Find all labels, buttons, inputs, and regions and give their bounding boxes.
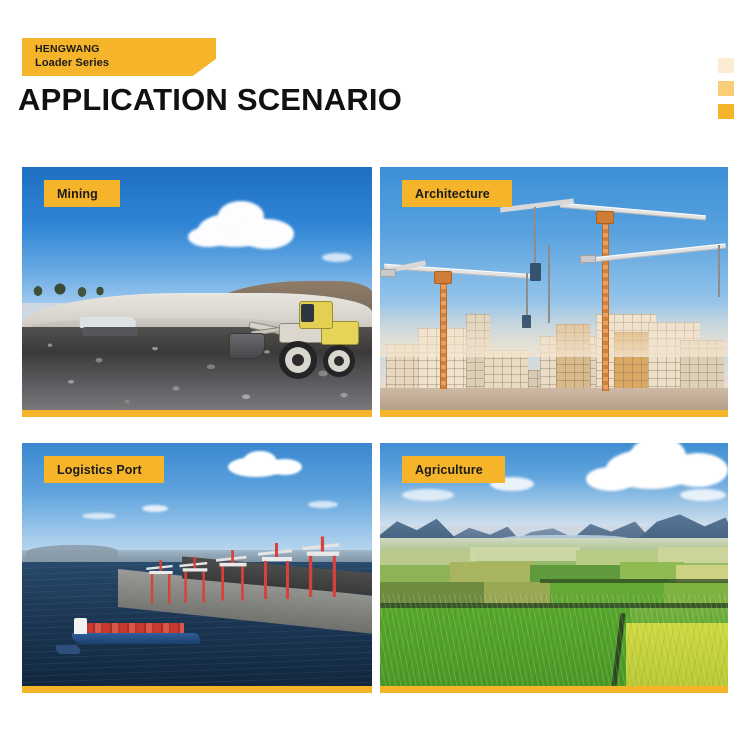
gantry-crane xyxy=(183,563,208,602)
haul-truck xyxy=(80,315,144,339)
gantry-crane xyxy=(149,566,172,603)
crop-rows xyxy=(380,594,728,686)
card-label-architecture: Architecture xyxy=(402,180,512,207)
brand-badge: HENGWANG Loader Series xyxy=(22,38,216,76)
cloud xyxy=(586,467,636,491)
cloud xyxy=(668,453,728,487)
card-accent-bar xyxy=(380,410,728,417)
scenario-card-grid: Mining xyxy=(0,167,750,693)
gantry-crane xyxy=(220,557,247,600)
cloud xyxy=(268,459,302,475)
card-accent-bar xyxy=(22,686,372,693)
scenario-card-agriculture[interactable]: Agriculture xyxy=(380,443,728,693)
brand-series: Loader Series xyxy=(35,56,216,70)
card-accent-bar xyxy=(380,686,728,693)
deco-square-solid xyxy=(718,104,734,119)
deco-square-medium xyxy=(718,81,734,96)
brand-name: HENGWANG xyxy=(35,42,216,56)
cloud xyxy=(308,501,338,508)
gantry-crane xyxy=(307,545,339,597)
cloud xyxy=(82,513,116,519)
loader-bucket xyxy=(229,333,265,359)
scenario-card-logistics-port[interactable]: Logistics Port xyxy=(22,443,372,693)
cloud xyxy=(322,253,352,262)
card-accent-bar xyxy=(22,410,372,417)
scenario-card-architecture[interactable]: Architecture xyxy=(380,167,728,417)
wheel-loader xyxy=(227,301,359,377)
cloud xyxy=(188,227,228,247)
scenario-card-mining[interactable]: Mining xyxy=(22,167,372,417)
cloud xyxy=(680,489,726,501)
loader-front-wheel xyxy=(279,341,317,379)
decorative-squares xyxy=(718,58,734,127)
tugboat xyxy=(56,645,80,654)
container-ship xyxy=(72,618,200,644)
page-title: APPLICATION SCENARIO xyxy=(18,82,402,118)
ridge-trees xyxy=(28,281,110,297)
tower-crane xyxy=(580,239,728,319)
loader-rear-wheel xyxy=(323,345,355,377)
tree-line xyxy=(540,579,728,583)
card-label-agriculture: Agriculture xyxy=(402,456,505,483)
gantry-crane xyxy=(262,551,292,599)
field-patch xyxy=(470,547,580,561)
distant-hill xyxy=(26,545,118,561)
page-header: HENGWANG Loader Series APPLICATION SCENA… xyxy=(0,0,750,150)
cloud xyxy=(402,489,454,501)
cloud xyxy=(240,219,294,249)
card-label-logistics-port: Logistics Port xyxy=(44,456,164,483)
card-label-mining: Mining xyxy=(44,180,120,207)
distant-city xyxy=(380,388,728,410)
deco-square-pale xyxy=(718,58,734,73)
cloud xyxy=(142,505,168,512)
